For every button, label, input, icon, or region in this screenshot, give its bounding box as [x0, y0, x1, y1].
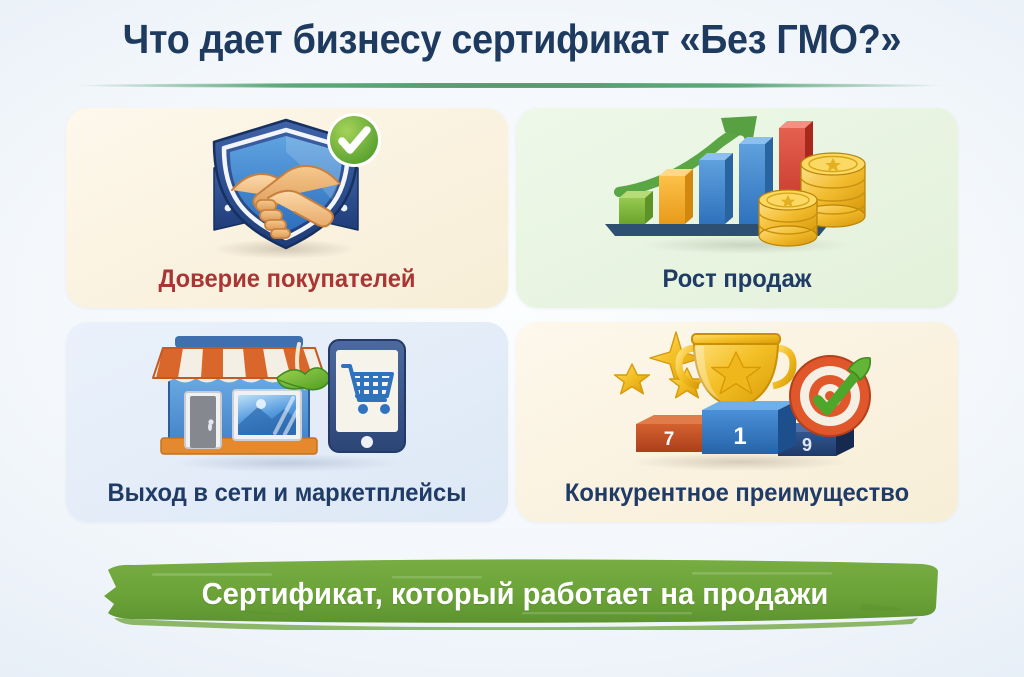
benefit-card-label-competitive-advantage: Конкурентное преимущество: [537, 479, 938, 508]
benefit-card-label-trust: Доверие покупателей: [87, 265, 488, 294]
trophy-podium-target-icon: 7 9 1: [516, 326, 958, 476]
infographic-canvas: Что дает бизнесу сертификат «Без ГМО?»: [0, 0, 1024, 677]
benefit-card-grid: Доверие покупателей: [66, 108, 958, 542]
benefit-card-trust[interactable]: Доверие покупателей: [66, 108, 508, 308]
svg-text:7: 7: [664, 429, 675, 450]
title-underline-rule: [74, 83, 946, 88]
growth-chart-coins-icon: [516, 112, 958, 262]
bottom-banner: Сертификат, который работает на продажи: [92, 556, 938, 630]
page-title: Что дает бизнесу сертификат «Без ГМО?»: [41, 16, 983, 63]
banner-brush-shape: [92, 556, 938, 630]
benefit-card-competitive-advantage[interactable]: 7 9 1: [516, 322, 958, 522]
storefront-smartphone-cart-icon: [66, 326, 508, 476]
benefit-card-online-marketplaces[interactable]: Выход в сети и маркетплейсы: [66, 322, 508, 522]
svg-text:9: 9: [802, 435, 812, 455]
benefit-card-label-online-marketplaces: Выход в сети и маркетплейсы: [87, 479, 488, 508]
benefit-card-label-sales-growth: Рост продаж: [537, 265, 938, 294]
svg-text:1: 1: [733, 423, 746, 450]
shield-handshake-check-icon: [66, 112, 508, 262]
benefit-card-sales-growth[interactable]: Рост продаж: [516, 108, 958, 308]
